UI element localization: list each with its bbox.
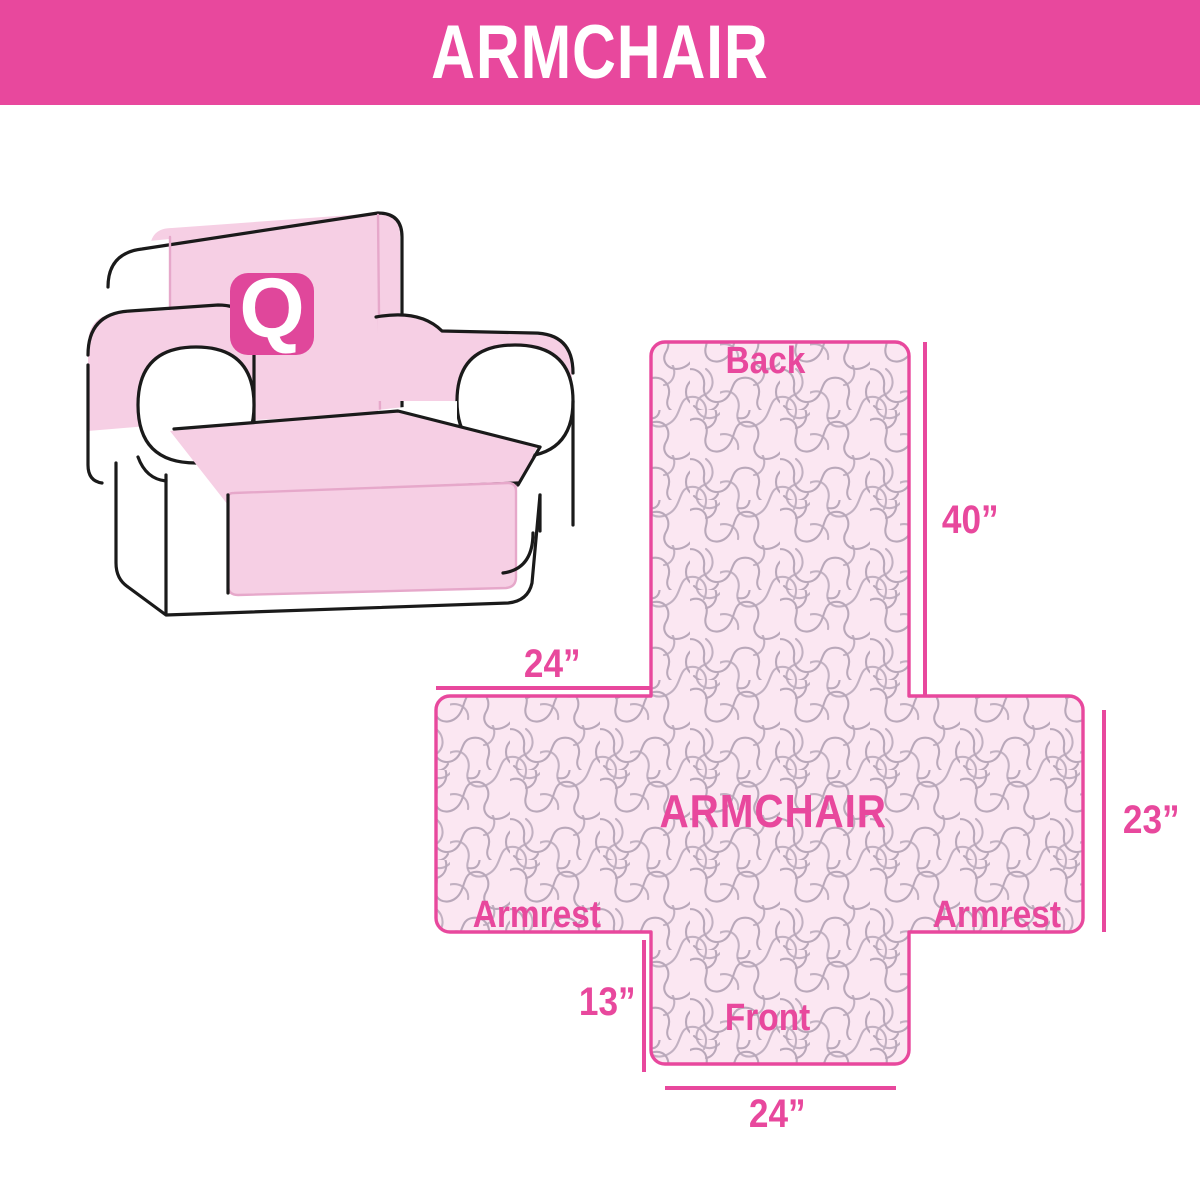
- slipcover-layout-diagram: Back ARMCHAIR Armrest Armrest Front 40” …: [420, 320, 1200, 1150]
- dimension-label-front-width: 24”: [749, 1094, 806, 1134]
- panel-label-armrest-left: Armrest: [473, 896, 601, 934]
- header-bar: ARMCHAIR: [0, 0, 1200, 105]
- content-stage: .ln { fill:none; stroke:#1a1a1a; stroke-…: [0, 105, 1200, 1200]
- panel-label-front: Front: [725, 999, 810, 1037]
- panel-label-armrest-right: Armrest: [933, 896, 1061, 934]
- dimension-label-seat-depth: 23”: [1123, 800, 1180, 840]
- panel-label-center: ARMCHAIR: [660, 788, 887, 834]
- brand-logo-letter: Q: [239, 261, 304, 355]
- panel-label-back: Back: [725, 342, 805, 380]
- dimension-label-front-height: 13”: [579, 982, 636, 1022]
- page-title: ARMCHAIR: [431, 15, 768, 91]
- dimension-label-back-height: 40”: [942, 500, 999, 540]
- dimension-label-back-width: 24”: [524, 644, 581, 684]
